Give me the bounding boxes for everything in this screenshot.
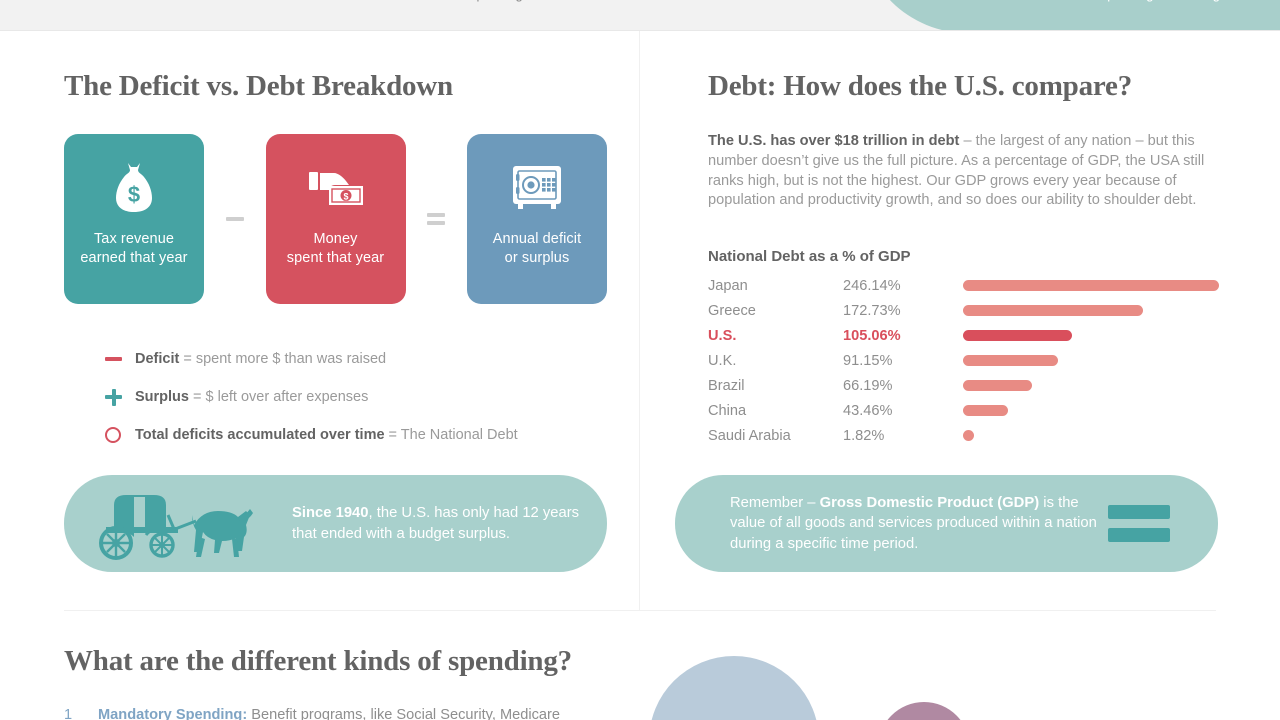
chart-category-label: China <box>708 403 843 419</box>
hand-cash-icon: $ <box>305 160 367 216</box>
legend-item-text: Deficit = spent more $ than was raised <box>135 350 386 368</box>
card-label-line2: earned that year <box>80 250 187 266</box>
legend-definition: = The National Debt <box>385 427 518 443</box>
legend-item-text: Total deficits accumulated over time = T… <box>135 426 518 444</box>
card-label-line2: spent that year <box>287 250 384 266</box>
callout-since-1940: Since 1940, the U.S. has only had 12 yea… <box>64 475 607 572</box>
list-item-number: 1 <box>64 705 98 720</box>
equals-operator-icon <box>427 213 445 225</box>
top-band-rule <box>0 30 1280 31</box>
chart-bar <box>963 330 1072 341</box>
chart-category-label: Japan <box>708 278 843 294</box>
chart-bar <box>963 405 1008 416</box>
section-divider <box>64 610 1216 611</box>
callout-text: Since 1940, the U.S. has only had 12 yea… <box>292 503 607 544</box>
svg-text:$: $ <box>343 192 348 202</box>
legend-item-surplus: Surplus = $ left over after expenses <box>105 378 625 416</box>
chart-value-label: 91.15% <box>843 353 963 369</box>
equals-operator <box>406 213 468 225</box>
chart-bar <box>963 280 1219 291</box>
page-title-compare: Debt: How does the U.S. compare? <box>708 70 1132 103</box>
chart-bar-track <box>963 323 1220 348</box>
top-band-left-text: spending <box>470 0 523 2</box>
chart-bar <box>963 430 974 441</box>
plus-icon <box>105 389 135 406</box>
chart-value-label: 172.73% <box>843 303 963 319</box>
legend-item-deficit: Deficit = spent more $ than was raised <box>105 340 625 378</box>
chart-row: Greece172.73% <box>708 298 1220 323</box>
chart-row: U.K.91.15% <box>708 348 1220 373</box>
legend-term: Total deficits accumulated over time <box>135 427 385 443</box>
callout-bold-lead: Since 1940 <box>292 505 369 521</box>
callout-bold: Gross Domestic Product (GDP) <box>820 495 1040 511</box>
callout-text: Remember – Gross Domestic Product (GDP) … <box>730 493 1108 555</box>
svg-text:$: $ <box>128 182 140 207</box>
chart-value-label: 246.14% <box>843 278 963 294</box>
chart-row: Brazil66.19% <box>708 373 1220 398</box>
chart-row: Saudi Arabia1.82% <box>708 423 1220 448</box>
formula-card-money-spent: $ Money spent that year <box>266 134 406 304</box>
list-item-term: Mandatory Spending: <box>98 707 247 720</box>
card-label-line2: or surplus <box>505 250 570 266</box>
card-label-line1: Annual deficit <box>493 231 581 247</box>
page-title-deficit: The Deficit vs. Debt Breakdown <box>64 70 453 103</box>
legend-item-national-debt: Total deficits accumulated over time = T… <box>105 416 625 454</box>
chart-title: National Debt as a % of GDP <box>708 248 1220 265</box>
formula-card-label: Annual deficit or surplus <box>493 230 581 268</box>
chart-rows: Japan246.14%Greece172.73%U.S.105.06%U.K.… <box>708 273 1220 448</box>
top-band-right-text: spending and saving <box>1101 0 1220 2</box>
chart-value-label: 66.19% <box>843 378 963 394</box>
safe-vault-icon <box>506 160 568 216</box>
top-band-teal-shape <box>860 0 1280 31</box>
formula-card-annual-deficit: Annual deficit or surplus <box>467 134 607 304</box>
top-band: spending spending and saving <box>0 0 1280 31</box>
formula-card-label: Money spent that year <box>287 230 384 268</box>
debt-chart: National Debt as a % of GDP Japan246.14%… <box>708 248 1220 448</box>
large-blue-circle <box>649 656 819 720</box>
page-title-spending: What are the different kinds of spending… <box>64 645 572 678</box>
chart-category-label: Greece <box>708 303 843 319</box>
chart-row: U.S.105.06% <box>708 323 1220 348</box>
chart-bar <box>963 355 1058 366</box>
minus-operator <box>204 217 266 221</box>
column-divider <box>639 31 640 611</box>
formula-card-tax-revenue: $ Tax revenue earned that year <box>64 134 204 304</box>
legend-item-text: Surplus = $ left over after expenses <box>135 388 368 406</box>
chart-bar-track <box>963 398 1220 423</box>
chart-category-label: Brazil <box>708 378 843 394</box>
callout-gdp-definition: Remember – Gross Domestic Product (GDP) … <box>675 475 1218 572</box>
horse-carriage-icon <box>82 487 272 561</box>
minus-icon <box>105 357 135 361</box>
chart-bar <box>963 305 1143 316</box>
legend-term: Deficit <box>135 351 179 367</box>
chart-category-label: U.S. <box>708 328 843 344</box>
spending-list: 1 Mandatory Spending: Benefit programs, … <box>64 705 624 720</box>
chart-category-label: U.K. <box>708 353 843 369</box>
circle-outline-icon <box>105 427 135 443</box>
infographic-page: spending spending and saving The Deficit… <box>0 0 1280 720</box>
equals-sign-icon <box>1108 505 1170 542</box>
chart-value-label: 43.46% <box>843 403 963 419</box>
formula-card-label: Tax revenue earned that year <box>80 230 187 268</box>
minus-operator-icon <box>226 217 244 221</box>
chart-value-label: 1.82% <box>843 428 963 444</box>
legend-definition: = $ left over after expenses <box>189 389 368 405</box>
chart-bar-track <box>963 423 1220 448</box>
legend-term: Surplus <box>135 389 189 405</box>
chart-bar-track <box>963 348 1220 373</box>
deficit-legend: Deficit = spent more $ than was raised S… <box>105 340 625 454</box>
chart-row: Japan246.14% <box>708 273 1220 298</box>
callout-lead: Remember – <box>730 495 820 511</box>
card-label-line1: Tax revenue <box>94 231 174 247</box>
legend-definition: = spent more $ than was raised <box>179 351 386 367</box>
chart-bar-track <box>963 273 1220 298</box>
chart-bar <box>963 380 1032 391</box>
card-label-line1: Money <box>313 231 357 247</box>
list-item: 1 Mandatory Spending: Benefit programs, … <box>64 705 624 720</box>
chart-bar-track <box>963 298 1220 323</box>
money-bag-icon: $ <box>103 160 165 216</box>
deficit-formula: $ Tax revenue earned that year $ Money s… <box>64 134 607 304</box>
paragraph-bold-lead: The U.S. has over $18 trillion in debt <box>708 133 959 149</box>
chart-category-label: Saudi Arabia <box>708 428 843 444</box>
chart-bar-track <box>963 373 1220 398</box>
list-item-text: Benefit programs, like Social Security, … <box>247 707 560 720</box>
small-mauve-circle <box>878 702 970 720</box>
list-item-body: Mandatory Spending: Benefit programs, li… <box>98 705 560 720</box>
chart-row: China43.46% <box>708 398 1220 423</box>
chart-value-label: 105.06% <box>843 328 963 344</box>
compare-paragraph: The U.S. has over $18 trillion in debt –… <box>708 132 1220 211</box>
